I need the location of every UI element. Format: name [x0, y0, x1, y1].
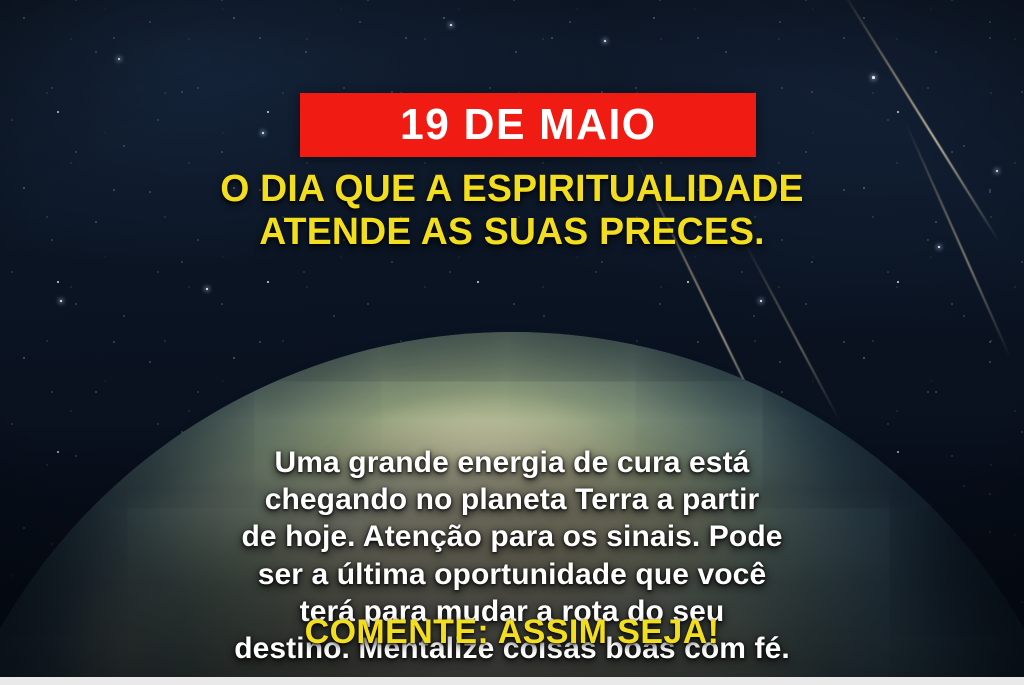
date-banner: 19 DE MAIO [300, 93, 756, 157]
body-line-4: ser a última oportunidade que você [56, 556, 968, 593]
body-line-2: chegando no planeta Terra a partir [56, 481, 968, 518]
bottom-border-strip [0, 677, 1024, 685]
headline: O DIA QUE A ESPIRITUALIDADE ATENDE AS SU… [0, 168, 1024, 255]
body-line-1: Uma grande energia de cura está [56, 444, 968, 481]
headline-line-1: O DIA QUE A ESPIRITUALIDADE [47, 168, 977, 211]
date-banner-text: 19 DE MAIO [400, 103, 656, 147]
headline-line-2: ATENDE AS SUAS PRECES. [47, 211, 977, 254]
body-line-3: de hoje. Atenção para os sinais. Pode [56, 518, 968, 555]
poster-content: 19 DE MAIO O DIA QUE A ESPIRITUALIDADE A… [0, 0, 1024, 685]
poster-canvas: 19 DE MAIO O DIA QUE A ESPIRITUALIDADE A… [0, 0, 1024, 685]
call-to-action-text: COMENTE: ASSIM SEJA! [0, 615, 1024, 649]
